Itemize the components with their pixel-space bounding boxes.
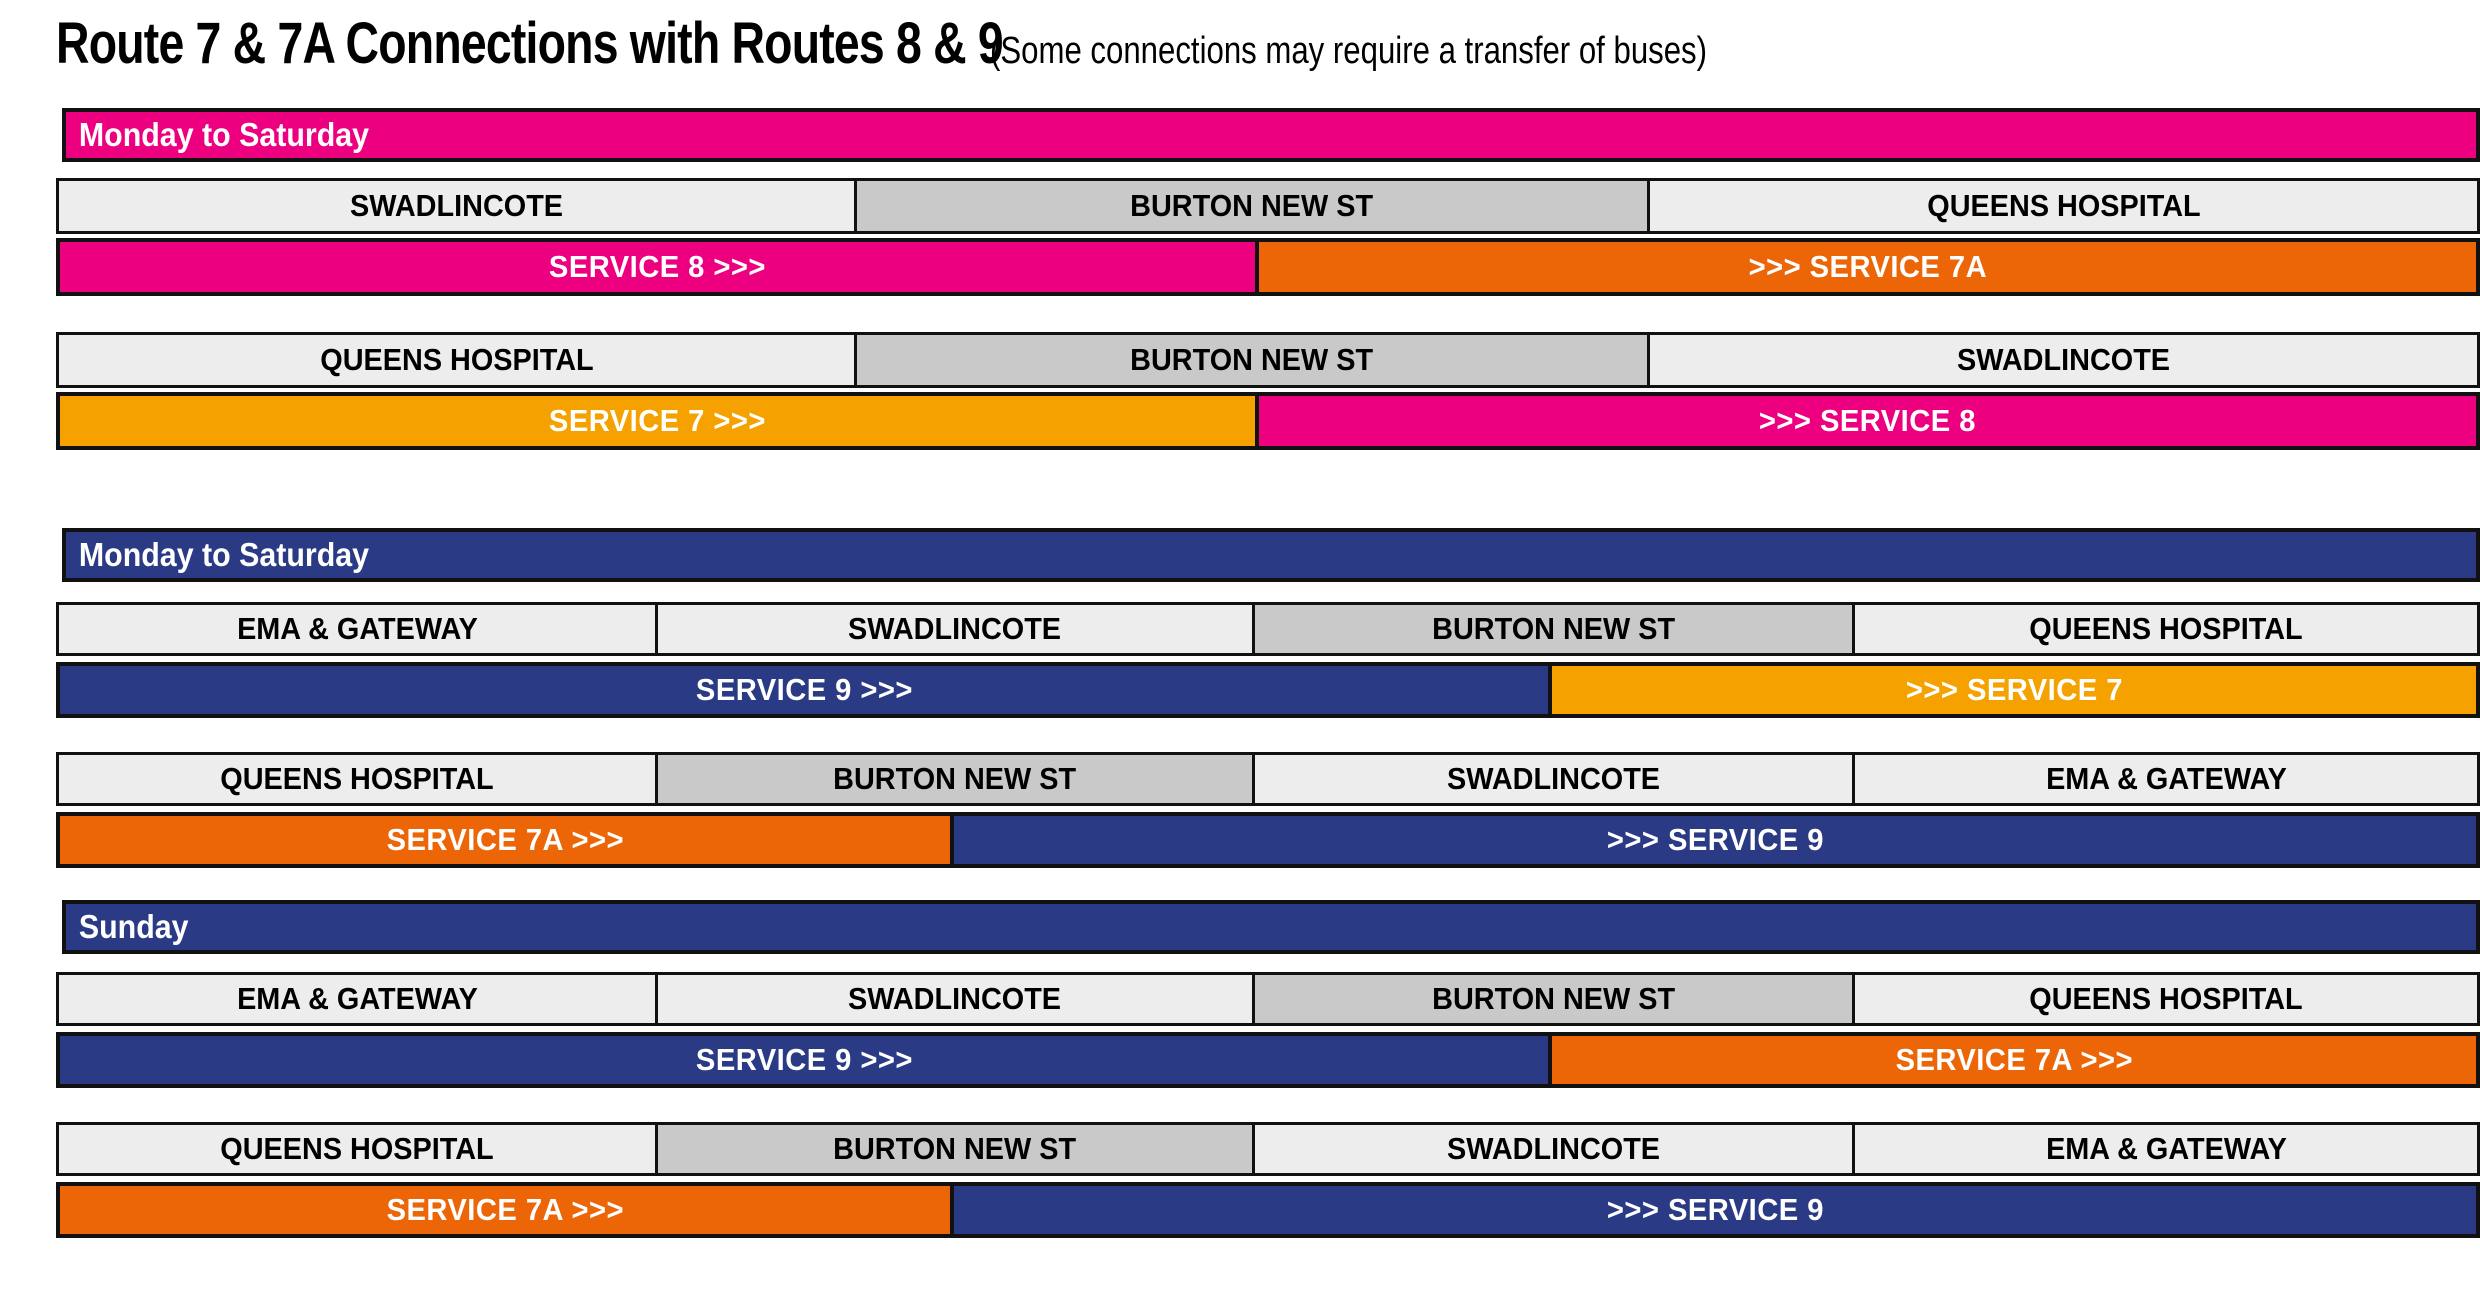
service-row-3: SERVICE 9 >>> >>> SERVICE 7 — [56, 662, 2480, 718]
service-segment: SERVICE 7A >>> — [1548, 1036, 2476, 1084]
stop-cell: EMA & GATEWAY — [59, 975, 658, 1023]
stop-cell: SWADLINCOTE — [1255, 755, 1855, 803]
section-header-2-label: Monday to Saturday — [66, 536, 369, 574]
stop-label: QUEENS HOSPITAL — [2029, 981, 2302, 1017]
stop-label: BURTON NEW ST — [1432, 611, 1675, 647]
service-segment: SERVICE 7 >>> — [60, 396, 1255, 446]
stop-row-2: QUEENS HOSPITAL BURTON NEW ST SWADLINCOT… — [56, 332, 2480, 388]
stop-label: EMA & GATEWAY — [237, 611, 478, 647]
service-label: SERVICE 9 >>> — [696, 672, 913, 708]
stop-label: QUEENS HOSPITAL — [1927, 188, 2200, 224]
page-title-main: Route 7 & 7A Connections with Routes 8 &… — [56, 10, 1003, 77]
page-title: Route 7 & 7A Connections with Routes 8 &… — [56, 10, 1864, 77]
section-header-2: Monday to Saturday — [62, 528, 2480, 582]
stop-label: SWADLINCOTE — [350, 188, 563, 224]
stop-cell: QUEENS HOSPITAL — [59, 1125, 658, 1173]
stop-label: BURTON NEW ST — [834, 761, 1077, 797]
service-label: >>> SERVICE 7A — [1748, 249, 1986, 285]
section-header-1-label: Monday to Saturday — [66, 116, 369, 154]
service-segment: SERVICE 7A >>> — [60, 816, 950, 864]
service-label: SERVICE 7A >>> — [386, 1192, 623, 1228]
service-label: SERVICE 7A >>> — [1895, 1042, 2132, 1078]
service-segment: >>> SERVICE 7A — [1255, 242, 2476, 292]
stop-label: QUEENS HOSPITAL — [320, 342, 593, 378]
section-header-3: Sunday — [62, 900, 2480, 954]
stop-cell: BURTON NEW ST — [1255, 975, 1855, 1023]
service-label: SERVICE 7A >>> — [386, 822, 623, 858]
stop-cell: SWADLINCOTE — [1650, 335, 2477, 385]
stop-label: BURTON NEW ST — [1131, 342, 1374, 378]
stop-label: QUEENS HOSPITAL — [220, 761, 493, 797]
stop-cell: QUEENS HOSPITAL — [59, 755, 658, 803]
connections-poster: Route 7 & 7A Connections with Routes 8 &… — [0, 0, 2480, 1299]
stop-label: QUEENS HOSPITAL — [220, 1131, 493, 1167]
stop-cell: SWADLINCOTE — [658, 975, 1255, 1023]
stop-label: EMA & GATEWAY — [2046, 1131, 2287, 1167]
service-segment: >>> SERVICE 7 — [1548, 666, 2476, 714]
stop-cell: QUEENS HOSPITAL — [1855, 605, 2477, 653]
service-segment: SERVICE 7A >>> — [60, 1186, 950, 1234]
stop-label: SWADLINCOTE — [848, 611, 1061, 647]
stop-cell: SWADLINCOTE — [1255, 1125, 1855, 1173]
stop-label: BURTON NEW ST — [834, 1131, 1077, 1167]
stop-label: QUEENS HOSPITAL — [2029, 611, 2302, 647]
service-label: >>> SERVICE 9 — [1607, 1192, 1824, 1228]
stop-cell: SWADLINCOTE — [59, 181, 857, 231]
service-row-6: SERVICE 7A >>> >>> SERVICE 9 — [56, 1182, 2480, 1238]
stop-cell: BURTON NEW ST — [1255, 605, 1855, 653]
service-label: >>> SERVICE 7 — [1906, 672, 2123, 708]
service-label: SERVICE 9 >>> — [696, 1042, 913, 1078]
service-label: SERVICE 7 >>> — [549, 403, 766, 439]
stop-cell: EMA & GATEWAY — [1855, 755, 2477, 803]
service-label: >>> SERVICE 8 — [1759, 403, 1976, 439]
service-segment: >>> SERVICE 9 — [950, 816, 2476, 864]
stop-label: SWADLINCOTE — [1447, 761, 1660, 797]
service-segment: SERVICE 8 >>> — [60, 242, 1255, 292]
stop-cell: BURTON NEW ST — [658, 755, 1255, 803]
stop-cell: QUEENS HOSPITAL — [59, 335, 857, 385]
service-segment: SERVICE 9 >>> — [60, 666, 1548, 714]
stop-cell: QUEENS HOSPITAL — [1855, 975, 2477, 1023]
stop-cell: BURTON NEW ST — [857, 181, 1650, 231]
service-label: SERVICE 8 >>> — [549, 249, 766, 285]
service-segment: >>> SERVICE 8 — [1255, 396, 2476, 446]
stop-row-5: EMA & GATEWAY SWADLINCOTE BURTON NEW ST … — [56, 972, 2480, 1026]
stop-cell: SWADLINCOTE — [658, 605, 1255, 653]
service-row-4: SERVICE 7A >>> >>> SERVICE 9 — [56, 812, 2480, 868]
stop-label: EMA & GATEWAY — [2046, 761, 2287, 797]
section-header-1: Monday to Saturday — [62, 108, 2480, 162]
page-title-subtitle: (Some connections may require a transfer… — [990, 30, 1707, 73]
stop-label: SWADLINCOTE — [1957, 342, 2170, 378]
service-row-5: SERVICE 9 >>> SERVICE 7A >>> — [56, 1032, 2480, 1088]
stop-cell: EMA & GATEWAY — [59, 605, 658, 653]
stop-row-4: QUEENS HOSPITAL BURTON NEW ST SWADLINCOT… — [56, 752, 2480, 806]
stop-cell: QUEENS HOSPITAL — [1650, 181, 2477, 231]
service-label: >>> SERVICE 9 — [1607, 822, 1824, 858]
stop-cell: EMA & GATEWAY — [1855, 1125, 2477, 1173]
service-segment: SERVICE 9 >>> — [60, 1036, 1548, 1084]
stop-cell: BURTON NEW ST — [658, 1125, 1255, 1173]
service-row-2: SERVICE 7 >>> >>> SERVICE 8 — [56, 392, 2480, 450]
stop-row-6: QUEENS HOSPITAL BURTON NEW ST SWADLINCOT… — [56, 1122, 2480, 1176]
stop-label: EMA & GATEWAY — [237, 981, 478, 1017]
stop-label: SWADLINCOTE — [848, 981, 1061, 1017]
service-segment: >>> SERVICE 9 — [950, 1186, 2476, 1234]
stop-label: BURTON NEW ST — [1131, 188, 1374, 224]
stop-cell: BURTON NEW ST — [857, 335, 1650, 385]
stop-row-3: EMA & GATEWAY SWADLINCOTE BURTON NEW ST … — [56, 602, 2480, 656]
stop-row-1: SWADLINCOTE BURTON NEW ST QUEENS HOSPITA… — [56, 178, 2480, 234]
section-header-3-label: Sunday — [66, 908, 189, 946]
stop-label: SWADLINCOTE — [1447, 1131, 1660, 1167]
stop-label: BURTON NEW ST — [1432, 981, 1675, 1017]
service-row-1: SERVICE 8 >>> >>> SERVICE 7A — [56, 238, 2480, 296]
